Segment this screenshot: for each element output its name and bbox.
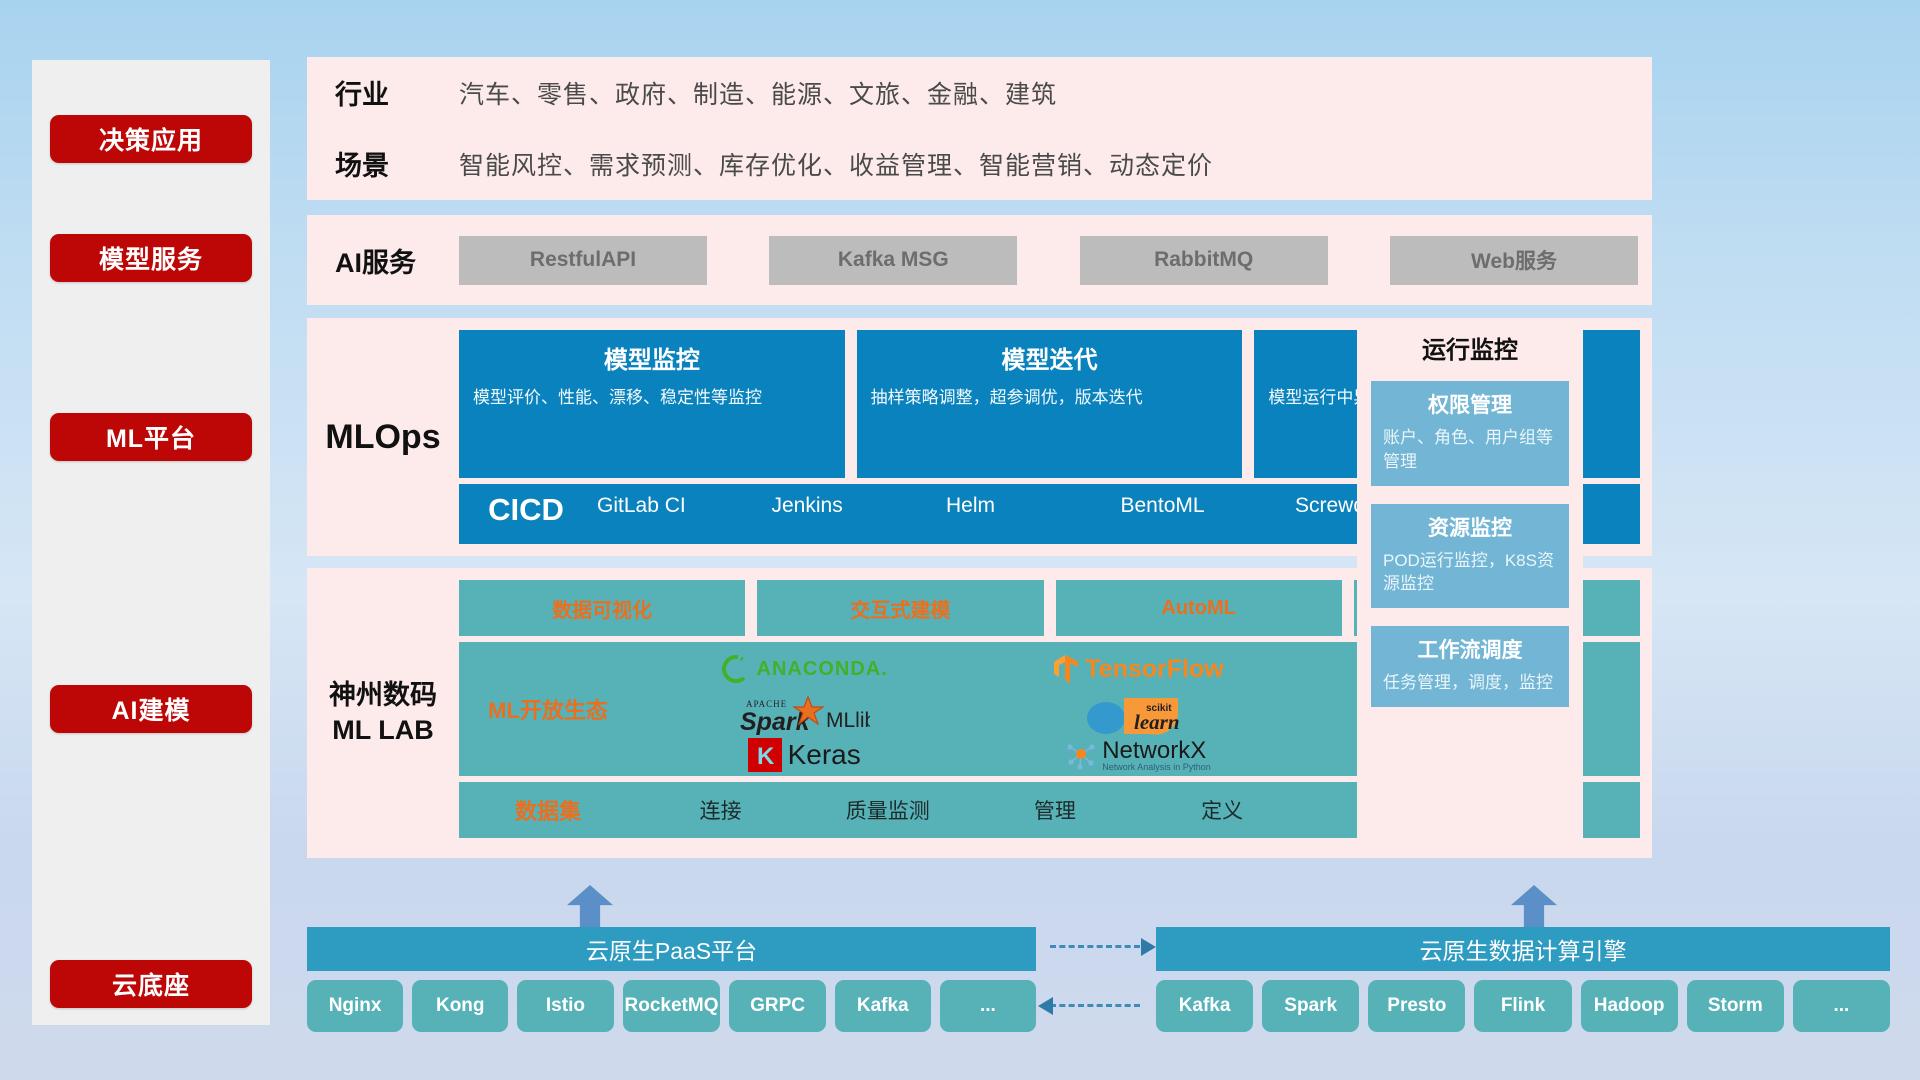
tool-chip-automl[interactable]: AutoML bbox=[1056, 580, 1342, 636]
paas-chip-grpc[interactable]: GRPC bbox=[729, 980, 825, 1032]
dataset-label: 数据集 bbox=[459, 794, 637, 826]
dataset-item-manage[interactable]: 管理 bbox=[971, 795, 1138, 825]
svg-text:MLlib: MLlib bbox=[826, 709, 870, 732]
ml-lab-label: 神州数码 ML LAB bbox=[307, 568, 459, 858]
monitoring-card-resource[interactable]: 资源监控 POD运行监控，K8S资源监控 bbox=[1371, 504, 1569, 609]
paas-chip-kong[interactable]: Kong bbox=[412, 980, 508, 1032]
card-desc: 账户、角色、用户组等管理 bbox=[1383, 426, 1557, 474]
svg-text:K: K bbox=[757, 743, 775, 770]
cicd-item-helm[interactable]: Helm bbox=[942, 494, 1117, 518]
architecture-main: 行业 汽车、零售、政府、制造、能源、文旅、金融、建筑 场景 智能风控、需求预测、… bbox=[307, 0, 1890, 1030]
cicd-label: CICD bbox=[459, 494, 593, 527]
scenario-label: 场景 bbox=[335, 144, 459, 183]
anaconda-wordmark: ANACONDA. bbox=[757, 658, 888, 681]
paas-chip-istio[interactable]: Istio bbox=[517, 980, 613, 1032]
layer-label-cloud-base[interactable]: 云底座 bbox=[50, 960, 252, 1008]
cloud-data-engine-block: 云原生数据计算引擎 Kafka Spark Presto Flink Hadoo… bbox=[1156, 927, 1890, 1032]
ai-chip-kafka-msg[interactable]: Kafka MSG bbox=[769, 236, 1017, 285]
scikit-learn-mark-icon: scikit learn bbox=[1084, 692, 1192, 738]
card-desc: 任务管理，调度，监控 bbox=[1383, 671, 1557, 695]
industry-scenario-band: 行业 汽车、零售、政府、制造、能源、文旅、金融、建筑 场景 智能风控、需求预测、… bbox=[307, 57, 1652, 200]
card-title: 资源监控 bbox=[1383, 512, 1557, 542]
card-title: 权限管理 bbox=[1383, 389, 1557, 419]
card-desc: 模型评价、性能、漂移、稳定性等监控 bbox=[473, 386, 831, 411]
cicd-item-jenkins[interactable]: Jenkins bbox=[768, 494, 943, 518]
ai-chip-web-service[interactable]: Web服务 bbox=[1390, 236, 1638, 285]
industry-row: 行业 汽车、零售、政府、制造、能源、文旅、金融、建筑 bbox=[307, 57, 1652, 128]
cicd-item-bentoml[interactable]: BentoML bbox=[1117, 494, 1292, 518]
monitoring-card-permission[interactable]: 权限管理 账户、角色、用户组等管理 bbox=[1371, 381, 1569, 486]
connector-arrowhead-left-icon bbox=[1038, 997, 1053, 1015]
paas-title-bar: 云原生PaaS平台 bbox=[307, 927, 1036, 971]
card-desc: POD运行监控，K8S资源监控 bbox=[1383, 549, 1557, 597]
monitoring-title: 运行监控 bbox=[1371, 330, 1569, 365]
card-title: 模型监控 bbox=[473, 340, 831, 375]
tool-chip-interactive-modeling[interactable]: 交互式建模 bbox=[757, 580, 1043, 636]
engine-title-bar: 云原生数据计算引擎 bbox=[1156, 927, 1890, 971]
engine-chip-more[interactable]: ... bbox=[1793, 980, 1890, 1032]
card-title: 工作流调度 bbox=[1383, 634, 1557, 664]
dataset-item-quality-monitoring[interactable]: 质量监测 bbox=[804, 795, 971, 825]
paas-chip-group: Nginx Kong Istio RocketMQ GRPC Kafka ... bbox=[307, 980, 1036, 1032]
networkx-tagline: Network Analysis in Python bbox=[1102, 763, 1211, 772]
ml-ecosystem-label: ML开放生态 bbox=[459, 693, 637, 725]
engine-chip-spark[interactable]: Spark bbox=[1262, 980, 1359, 1032]
layer-label-model-service[interactable]: 模型服务 bbox=[50, 234, 252, 282]
ai-service-label: AI服务 bbox=[335, 241, 459, 280]
networkx-wordmark: NetworkX bbox=[1102, 739, 1211, 763]
mlops-card-model-monitoring[interactable]: 模型监控 模型评价、性能、漂移、稳定性等监控 bbox=[459, 330, 845, 478]
connector-line-right bbox=[1050, 945, 1140, 948]
ml-lab-label-line1: 神州数码 bbox=[329, 678, 437, 713]
engine-chip-hadoop[interactable]: Hadoop bbox=[1581, 980, 1678, 1032]
ml-lab-label-line2: ML LAB bbox=[332, 713, 434, 748]
dataset-item-connect[interactable]: 连接 bbox=[637, 795, 804, 825]
paas-chip-nginx[interactable]: Nginx bbox=[307, 980, 403, 1032]
scikit-learn-logo[interactable]: scikit learn bbox=[1084, 692, 1192, 738]
ai-service-chip-group: RestfulAPI Kafka MSG RabbitMQ Web服务 bbox=[459, 236, 1652, 285]
ai-service-band: AI服务 RestfulAPI Kafka MSG RabbitMQ Web服务 bbox=[307, 215, 1652, 305]
engine-chip-flink[interactable]: Flink bbox=[1474, 980, 1571, 1032]
networkx-graph-icon bbox=[1066, 740, 1096, 770]
card-title: 模型迭代 bbox=[871, 340, 1229, 375]
industry-label: 行业 bbox=[335, 73, 459, 112]
connector-line-left bbox=[1050, 1004, 1140, 1007]
engine-chip-kafka[interactable]: Kafka bbox=[1156, 980, 1253, 1032]
paas-engine-connectors bbox=[1042, 932, 1154, 1020]
keras-mark-icon: K bbox=[748, 738, 782, 772]
runtime-monitoring-rail: 运行监控 权限管理 账户、角色、用户组等管理 资源监控 POD运行监控，K8S资… bbox=[1357, 318, 1583, 858]
card-desc: 抽样策略调整，超参调优，版本迭代 bbox=[871, 386, 1229, 411]
tensorflow-wordmark: TensorFlow bbox=[1085, 655, 1223, 684]
dataset-item-define[interactable]: 定义 bbox=[1139, 795, 1306, 825]
cloud-paas-block: 云原生PaaS平台 Nginx Kong Istio RocketMQ GRPC… bbox=[307, 927, 1036, 1032]
anaconda-mark-icon bbox=[721, 654, 751, 684]
tensorflow-mark-icon bbox=[1053, 654, 1079, 684]
layer-label-decision-app[interactable]: 决策应用 bbox=[50, 115, 252, 163]
industry-values: 汽车、零售、政府、制造、能源、文旅、金融、建筑 bbox=[459, 75, 1057, 111]
ai-chip-restfulapi[interactable]: RestfulAPI bbox=[459, 236, 707, 285]
left-layer-rail: 决策应用 模型服务 ML平台 AI建模 bbox=[32, 60, 270, 1025]
layer-label-ai-modeling[interactable]: AI建模 bbox=[50, 685, 252, 733]
engine-chip-presto[interactable]: Presto bbox=[1368, 980, 1465, 1032]
keras-logo[interactable]: K Keras bbox=[748, 738, 861, 772]
engine-chip-group: Kafka Spark Presto Flink Hadoop Storm ..… bbox=[1156, 980, 1890, 1032]
svg-text:learn: learn bbox=[1134, 710, 1180, 734]
cicd-item-gitlab-ci[interactable]: GitLab CI bbox=[593, 494, 768, 518]
anaconda-logo[interactable]: ANACONDA. bbox=[721, 654, 888, 684]
paas-chip-kafka[interactable]: Kafka bbox=[835, 980, 931, 1032]
mlops-card-model-iteration[interactable]: 模型迭代 抽样策略调整，超参调优，版本迭代 bbox=[857, 330, 1243, 478]
tensorflow-logo[interactable]: TensorFlow bbox=[1053, 654, 1223, 684]
networkx-wordmark-block: NetworkX Network Analysis in Python bbox=[1102, 739, 1211, 772]
apache-spark-mark-icon: APACHE Spark MLlib bbox=[738, 693, 870, 737]
layer-label-ml-platform[interactable]: ML平台 bbox=[50, 413, 252, 461]
mlops-label: MLOps bbox=[307, 318, 459, 556]
connector-arrowhead-right-icon bbox=[1141, 938, 1156, 956]
paas-chip-rocketmq[interactable]: RocketMQ bbox=[623, 980, 721, 1032]
ai-chip-rabbitmq[interactable]: RabbitMQ bbox=[1080, 236, 1328, 285]
monitoring-card-workflow[interactable]: 工作流调度 任务管理，调度，监控 bbox=[1371, 626, 1569, 707]
scenario-row: 场景 智能风控、需求预测、库存优化、收益管理、智能营销、动态定价 bbox=[307, 128, 1652, 199]
keras-wordmark: Keras bbox=[788, 739, 861, 771]
networkx-logo[interactable]: NetworkX Network Analysis in Python bbox=[1066, 739, 1211, 772]
spark-mllib-logo[interactable]: APACHE Spark MLlib bbox=[738, 693, 870, 737]
scenario-values: 智能风控、需求预测、库存优化、收益管理、智能营销、动态定价 bbox=[459, 146, 1213, 182]
paas-chip-more[interactable]: ... bbox=[940, 980, 1036, 1032]
tool-chip-data-visualization[interactable]: 数据可视化 bbox=[459, 580, 745, 636]
engine-chip-storm[interactable]: Storm bbox=[1687, 980, 1784, 1032]
